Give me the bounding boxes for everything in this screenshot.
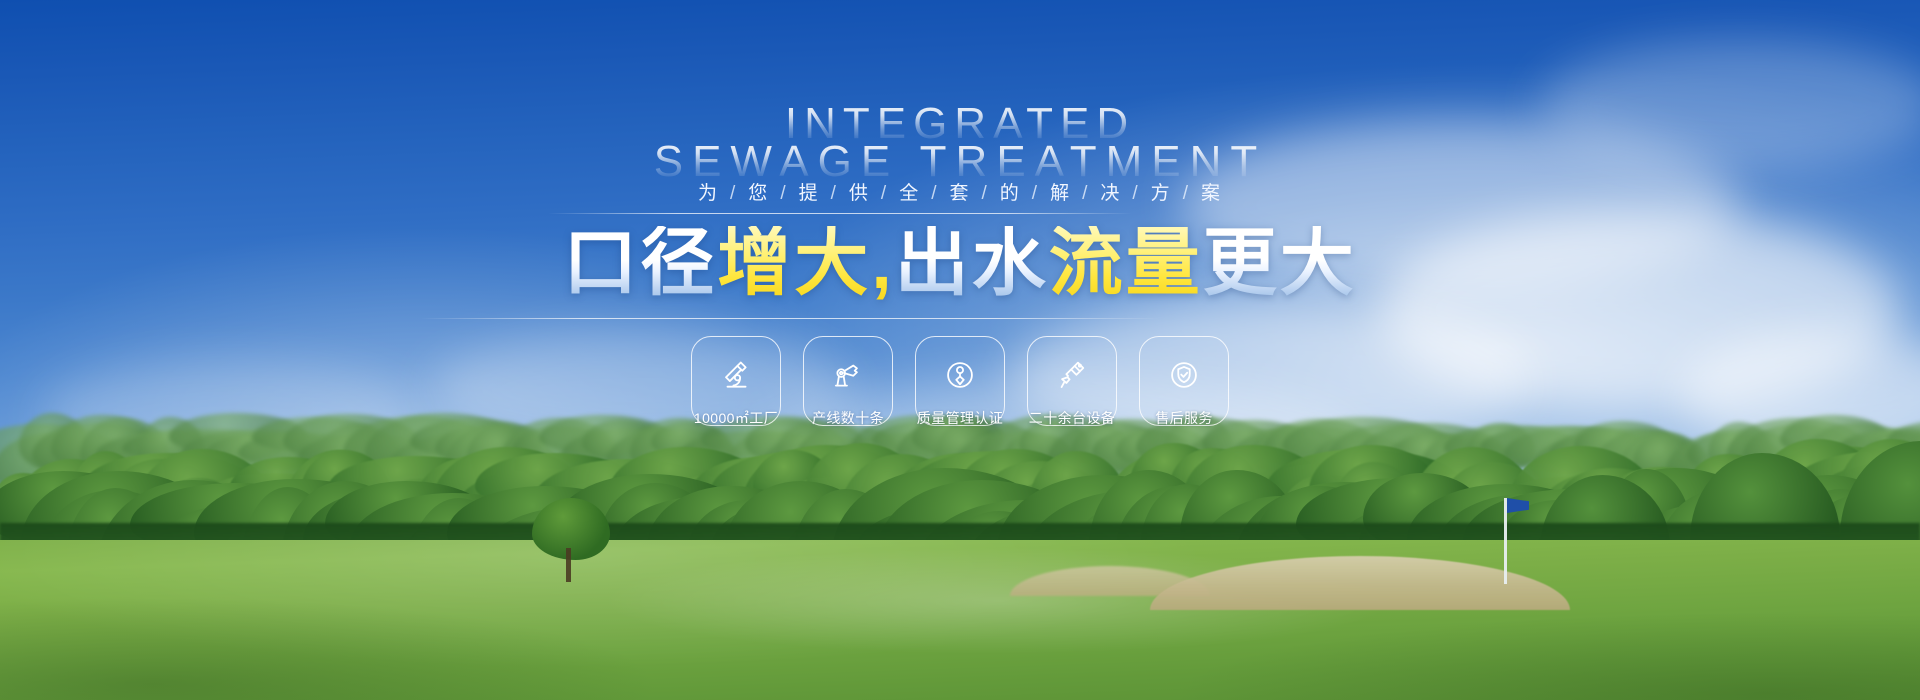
tagline-separator: /: [831, 183, 838, 205]
shield-check-icon: [1167, 358, 1201, 392]
tagline-separator: /: [1183, 183, 1190, 205]
page-title-segment: 出水: [895, 226, 1049, 300]
tagline-separator: /: [931, 183, 938, 205]
tagline-word: 为: [687, 178, 730, 205]
tagline-word: 决: [1089, 178, 1132, 205]
banner-content: INTEGRATED SEWAGE TREATMENT 为/您/提/供/全/套/…: [0, 0, 1920, 700]
feature-badge-label: 售后服务: [1155, 408, 1213, 428]
page-title: 口径增大,出水流量更大: [0, 226, 1920, 300]
tagline-word: 套: [938, 178, 981, 205]
tagline-word: 提: [788, 178, 831, 205]
page-title-segment: 更大: [1203, 226, 1357, 300]
microscope-icon: [719, 358, 753, 392]
tagline-word: 您: [737, 178, 780, 205]
tagline-separator: /: [1082, 183, 1089, 205]
feature-badge-label: 二十余台设备: [1029, 408, 1115, 428]
feature-badge-label: 产线数十条: [812, 408, 884, 428]
tagline-separator: /: [982, 183, 989, 205]
feature-badge-5[interactable]: 售后服务: [1139, 336, 1229, 426]
page-title-segment: 流量: [1049, 226, 1203, 300]
tagline-word: 供: [838, 178, 881, 205]
divider-bottom: [420, 318, 1160, 319]
tagline-separator: /: [1132, 183, 1139, 205]
tagline-separator: /: [1032, 183, 1039, 205]
page-title-segment: 增大: [717, 226, 871, 300]
tagline-word: 解: [1039, 178, 1082, 205]
feature-badge-4[interactable]: 二十余台设备: [1027, 336, 1117, 426]
hand-tool-icon: [1055, 358, 1089, 392]
hero-banner: INTEGRATED SEWAGE TREATMENT 为/您/提/供/全/套/…: [0, 0, 1920, 700]
tagline-word: 案: [1190, 178, 1233, 205]
tagline-separator: /: [881, 183, 888, 205]
award-medal-icon: [943, 358, 977, 392]
feature-badge-label: 质量管理认证: [917, 408, 1003, 428]
feature-badge-3[interactable]: 质量管理认证: [915, 336, 1005, 426]
feature-badge-2[interactable]: 产线数十条: [803, 336, 893, 426]
tagline-separator: /: [780, 183, 787, 205]
tagline-word: 的: [989, 178, 1032, 205]
tagline: 为/您/提/供/全/套/的/解/决/方/案: [0, 178, 1920, 205]
feature-badge-label: 10000㎡工厂: [694, 408, 778, 428]
feature-badge-1[interactable]: 10000㎡工厂: [691, 336, 781, 426]
page-title-segment: ,: [871, 226, 895, 300]
tagline-separator: /: [730, 183, 737, 205]
english-headline-group: INTEGRATED SEWAGE TREATMENT: [0, 102, 1920, 184]
feature-badge-list: 10000㎡工厂产线数十条质量管理认证二十余台设备售后服务: [0, 336, 1920, 426]
tagline-word: 方: [1140, 178, 1183, 205]
wrench-gear-icon: [831, 358, 865, 392]
page-title-segment: 口径: [563, 226, 717, 300]
divider-top: [548, 213, 1132, 214]
tagline-word: 全: [888, 178, 931, 205]
